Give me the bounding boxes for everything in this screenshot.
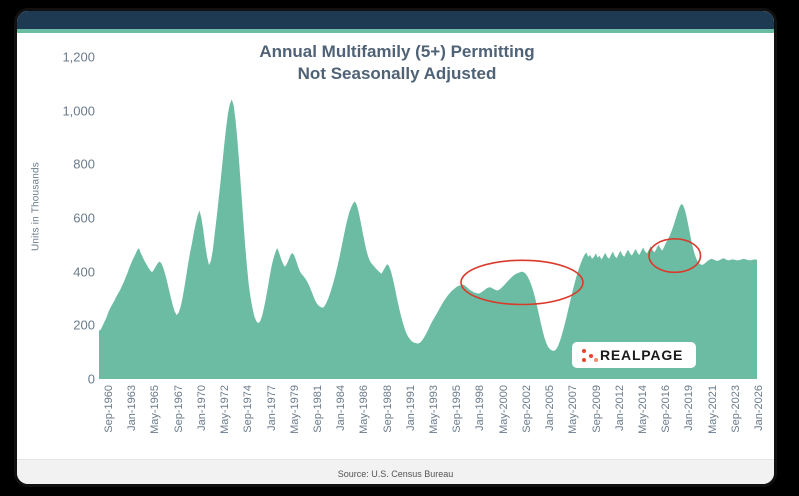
x-axis-tick-label: May-2014 [637, 385, 649, 434]
x-axis-tick-label: Sep-2016 [660, 385, 672, 433]
x-axis-tick-label: May-1993 [428, 385, 440, 434]
x-axis-tick-label: May-1965 [149, 385, 161, 434]
x-axis-ticks: Sep-1960Jan-1963May-1965Sep-1967Jan-1970… [99, 383, 757, 461]
x-axis-tick-label: Jan-2026 [753, 385, 765, 431]
x-axis-tick-label: Jan-1977 [266, 385, 278, 431]
y-axis-tick-label: 600 [35, 212, 95, 225]
y-axis-tick-label: 1,200 [35, 51, 95, 64]
x-axis-tick-label: Jan-1970 [196, 385, 208, 431]
x-axis-tick-label: Sep-1967 [173, 385, 185, 433]
x-axis-tick-label: Jan-1963 [126, 385, 138, 431]
x-axis-tick-label: Sep-1960 [103, 385, 115, 433]
y-axis-ticks: 02004006008001,0001,200 [23, 33, 95, 458]
x-axis-tick-label: Sep-1988 [382, 385, 394, 433]
x-axis-tick-label: Jan-1984 [335, 385, 347, 431]
source-note: Source: U.S. Census Bureau [17, 469, 774, 479]
x-axis-tick-label: Sep-1995 [451, 385, 463, 433]
realpage-logo: REALPAGE [572, 342, 696, 368]
x-axis-tick-label: Jan-1998 [474, 385, 486, 431]
realpage-wordmark: REALPAGE [600, 347, 683, 363]
chart-card: Annual Multifamily (5+) Permitting Not S… [14, 8, 777, 487]
x-axis-tick-label: May-2021 [707, 385, 719, 434]
chart-canvas: Annual Multifamily (5+) Permitting Not S… [17, 33, 768, 458]
y-axis-tick-label: 400 [35, 265, 95, 278]
x-axis-tick-label: Sep-2002 [521, 385, 533, 433]
x-axis-tick-label: Jan-2019 [683, 385, 695, 431]
x-axis-tick-label: Sep-1974 [242, 385, 254, 433]
plot-area [99, 33, 757, 381]
y-axis-tick-label: 1,000 [35, 104, 95, 117]
x-axis-tick-label: May-1979 [289, 385, 301, 434]
area-series [99, 99, 757, 379]
x-axis-tick-label: Jan-2012 [614, 385, 626, 431]
x-axis-tick-label: May-2000 [498, 385, 510, 434]
area-chart-svg [99, 33, 757, 381]
x-axis-tick-label: May-1972 [219, 385, 231, 434]
x-axis-tick-label: May-2007 [567, 385, 579, 434]
x-axis-tick-label: Sep-2023 [730, 385, 742, 433]
x-axis-tick-label: May-1986 [358, 385, 370, 434]
x-axis-tick-label: Jan-1991 [405, 385, 417, 431]
y-axis-tick-label: 0 [35, 373, 95, 386]
x-axis-tick-label: Sep-2009 [591, 385, 603, 433]
x-axis-tick-label: Jan-2005 [544, 385, 556, 431]
x-axis-tick-label: Sep-1981 [312, 385, 324, 433]
realpage-dots-icon [580, 347, 600, 363]
y-axis-tick-label: 800 [35, 158, 95, 171]
y-axis-tick-label: 200 [35, 319, 95, 332]
header-bar [17, 11, 774, 29]
